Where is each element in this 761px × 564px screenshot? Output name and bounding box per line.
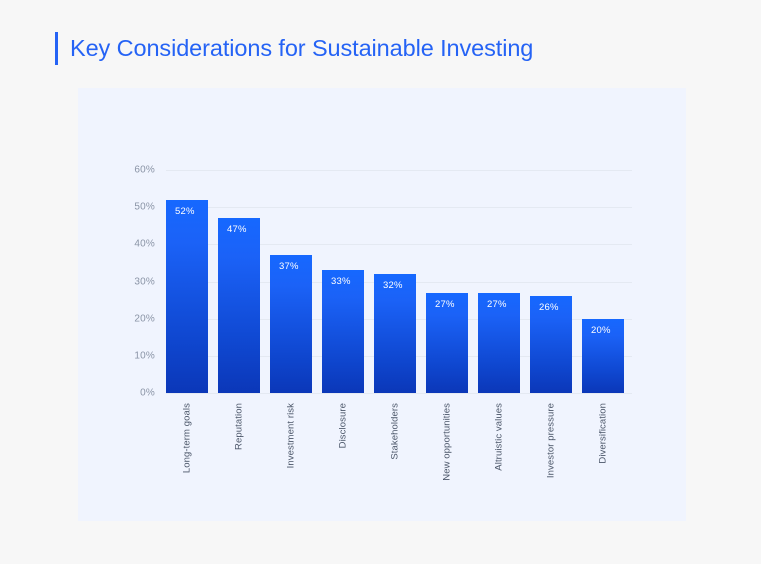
bar[interactable]: 26% xyxy=(530,296,572,393)
x-axis-category-label: Diversification xyxy=(598,403,609,464)
chart-panel: 0%10%20%30%40%50%60% 52%Long-term goals4… xyxy=(78,88,686,521)
bar-value-label: 33% xyxy=(331,276,351,287)
bar-item[interactable]: 52%Long-term goals xyxy=(166,170,208,393)
bar[interactable]: 27% xyxy=(426,293,468,393)
bars-group: 52%Long-term goals47%Reputation37%Invest… xyxy=(166,170,632,393)
bar-value-label: 37% xyxy=(279,261,299,272)
bar-value-label: 52% xyxy=(175,206,195,217)
bar-item[interactable]: 27%New opportunities xyxy=(426,170,468,393)
bar-value-label: 27% xyxy=(487,299,507,310)
x-axis-category-label: Disclosure xyxy=(338,403,349,448)
y-axis-tick-label: 0% xyxy=(140,388,155,399)
x-axis-category-label: Long-term goals xyxy=(182,403,193,473)
y-axis-tick-label: 10% xyxy=(134,350,155,361)
bar-value-label: 26% xyxy=(539,302,559,313)
title-block: Key Considerations for Sustainable Inves… xyxy=(55,30,533,66)
bar-item[interactable]: 47%Reputation xyxy=(218,170,260,393)
y-axis-tick-label: 40% xyxy=(134,239,155,250)
y-axis-tick-label: 60% xyxy=(134,165,155,176)
title-accent-bar xyxy=(55,32,58,65)
x-axis-category-label: Stakeholders xyxy=(390,403,401,460)
bar[interactable]: 32% xyxy=(374,274,416,393)
x-axis-category-label: Altruistic values xyxy=(494,403,505,471)
bar[interactable]: 37% xyxy=(270,255,312,393)
gridline xyxy=(166,393,632,394)
y-axis-tick-label: 50% xyxy=(134,202,155,213)
bar-value-label: 47% xyxy=(227,224,247,235)
x-axis-category-label: Reputation xyxy=(234,403,245,450)
bar-item[interactable]: 27%Altruistic values xyxy=(478,170,520,393)
bar[interactable]: 52% xyxy=(166,200,208,393)
bar-value-label: 32% xyxy=(383,280,403,291)
bar-value-label: 27% xyxy=(435,299,455,310)
plot-area: 0%10%20%30%40%50%60% 52%Long-term goals4… xyxy=(166,170,632,393)
bar-item[interactable]: 32%Stakeholders xyxy=(374,170,416,393)
x-axis-category-label: Investor pressure xyxy=(546,403,557,478)
bar[interactable]: 33% xyxy=(322,270,364,393)
bar[interactable]: 20% xyxy=(582,319,624,393)
bar-item[interactable]: 20%Diversification xyxy=(582,170,624,393)
page-title: Key Considerations for Sustainable Inves… xyxy=(70,35,533,62)
bar[interactable]: 47% xyxy=(218,218,260,393)
x-axis-category-label: New opportunities xyxy=(442,403,453,481)
y-axis-tick-label: 20% xyxy=(134,313,155,324)
x-axis-category-label: Investment risk xyxy=(286,403,297,468)
bar-item[interactable]: 26%Investor pressure xyxy=(530,170,572,393)
bar-item[interactable]: 33%Disclosure xyxy=(322,170,364,393)
y-axis-tick-label: 30% xyxy=(134,276,155,287)
bar-item[interactable]: 37%Investment risk xyxy=(270,170,312,393)
bar[interactable]: 27% xyxy=(478,293,520,393)
bar-value-label: 20% xyxy=(591,325,611,336)
